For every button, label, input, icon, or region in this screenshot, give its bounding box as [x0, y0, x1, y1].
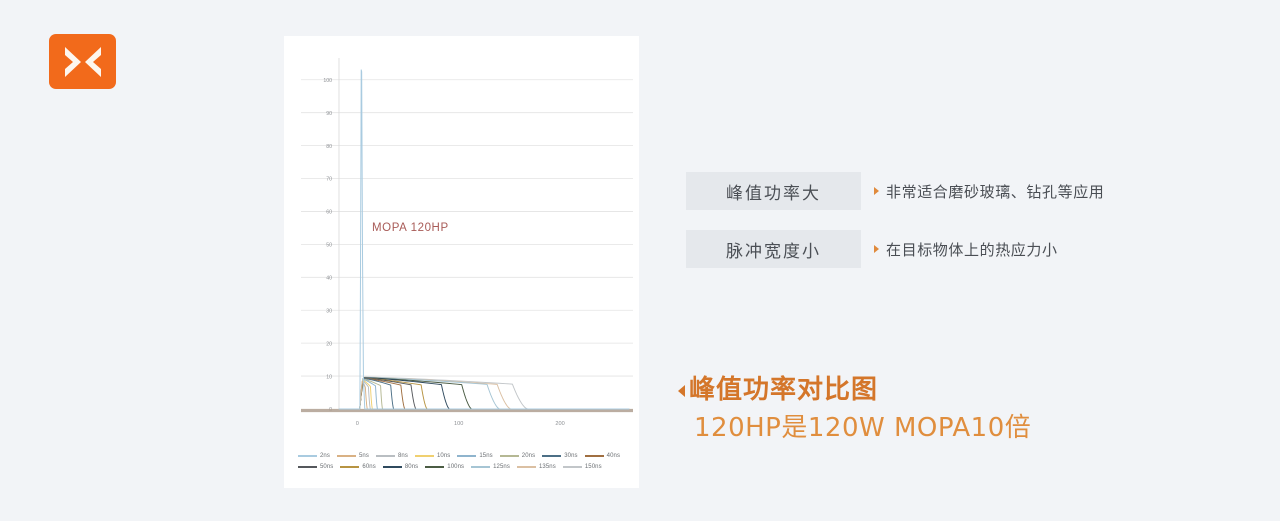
legend-item[interactable]: 40ns	[585, 453, 620, 459]
feature-description: 在目标物体上的热应力小	[886, 239, 1058, 260]
feature-row-peak-power: 峰值功率大 非常适合磨砂玻璃、钻孔等应用	[686, 172, 1104, 210]
legend-swatch	[542, 455, 561, 457]
legend-item[interactable]: 10ns	[415, 453, 450, 459]
legend-item[interactable]: 30ns	[542, 453, 577, 459]
y-axis-tick-label: 60	[326, 210, 332, 216]
feature-row-pulse-width: 脉冲宽度小 在目标物体上的热应力小	[686, 230, 1058, 268]
headline-block: 峰值功率对比图 120HP是120W MOPA10倍	[678, 376, 1098, 444]
legend-label: 10ns	[437, 453, 450, 459]
legend-item[interactable]: 20ns	[500, 453, 535, 459]
y-axis-tick-label: 80	[326, 144, 332, 150]
chart-series-line	[339, 70, 629, 409]
headline-title: 峰值功率对比图	[689, 376, 878, 406]
triangle-right-icon	[874, 245, 879, 253]
triangle-left-icon	[678, 385, 685, 397]
chart-annotation-mopa-120hp: MOPA 120HP	[372, 222, 449, 234]
legend-swatch	[376, 455, 395, 457]
legend-item[interactable]: 80ns	[383, 464, 418, 470]
legend-label: 30ns	[564, 453, 577, 459]
headline-subtitle: 120HP是120W MOPA10倍	[694, 414, 1098, 444]
y-axis-tick-label: 40	[326, 276, 332, 282]
legend-item[interactable]: 15ns	[457, 453, 492, 459]
legend-label: 100ns	[447, 464, 464, 470]
feature-description: 非常适合磨砂玻璃、钻孔等应用	[886, 181, 1104, 202]
feature-chip-label: 脉冲宽度小	[726, 237, 821, 262]
chart-series-line	[339, 381, 629, 409]
legend-swatch	[471, 466, 490, 468]
legend-swatch	[425, 466, 444, 468]
y-axis-tick-label: 50	[326, 243, 332, 249]
legend-label: 8ns	[398, 453, 408, 459]
legend-label: 50ns	[320, 464, 333, 470]
legend-swatch	[585, 455, 604, 457]
chart-legend: 2ns5ns8ns10ns15ns20ns30ns40ns 50ns60ns80…	[294, 450, 634, 472]
chart-series-line	[339, 377, 629, 409]
legend-swatch	[298, 466, 317, 468]
chart-series-line	[339, 378, 629, 409]
legend-item[interactable]: 8ns	[376, 453, 408, 459]
feature-chip: 脉冲宽度小	[686, 230, 861, 268]
legend-swatch	[500, 455, 519, 457]
legend-label: 40ns	[607, 453, 620, 459]
legend-swatch	[383, 466, 402, 468]
legend-swatch	[298, 455, 317, 457]
brand-logo	[49, 34, 116, 89]
legend-item[interactable]: 150ns	[563, 464, 602, 470]
x-axis-tick-label: 100	[454, 421, 463, 427]
legend-label: 15ns	[479, 453, 492, 459]
peak-power-comparison-chart: 01020304050607080901000100200MOPA 120HP	[284, 36, 639, 446]
legend-label: 135ns	[539, 464, 556, 470]
legend-label: 2ns	[320, 453, 330, 459]
legend-item[interactable]: 2ns	[298, 453, 330, 459]
legend-item[interactable]: 60ns	[340, 464, 375, 470]
legend-label: 20ns	[522, 453, 535, 459]
legend-item[interactable]: 5ns	[337, 453, 369, 459]
legend-label: 125ns	[493, 464, 510, 470]
x-axis-tick-label: 0	[356, 421, 359, 427]
legend-swatch	[563, 466, 582, 468]
x-axis-tick-label: 200	[555, 421, 564, 427]
legend-swatch	[340, 466, 359, 468]
chart-plot-area: 01020304050607080901000100200MOPA 120HP	[284, 36, 639, 446]
legend-item[interactable]: 50ns	[298, 464, 333, 470]
headline-title-row: 峰值功率对比图	[678, 376, 1098, 406]
legend-swatch	[415, 455, 434, 457]
y-axis-tick-label: 20	[326, 341, 332, 347]
legend-swatch	[457, 455, 476, 457]
legend-swatch	[517, 466, 536, 468]
legend-row-1: 2ns5ns8ns10ns15ns20ns30ns40ns	[294, 450, 634, 461]
double-chevron-logo-icon	[59, 44, 107, 80]
y-axis-tick-label: 70	[326, 177, 332, 183]
y-axis-tick-label: 10	[326, 374, 332, 380]
chart-card: 01020304050607080901000100200MOPA 120HP …	[284, 36, 639, 488]
legend-item[interactable]: 125ns	[471, 464, 510, 470]
legend-label: 5ns	[359, 453, 369, 459]
legend-label: 80ns	[405, 464, 418, 470]
legend-label: 60ns	[362, 464, 375, 470]
chart-series-line	[339, 381, 629, 409]
legend-swatch	[337, 455, 356, 457]
y-axis-tick-label: 100	[323, 78, 332, 84]
legend-row-2: 50ns60ns80ns100ns125ns135ns150ns	[294, 461, 634, 472]
feature-chip-label: 峰值功率大	[726, 179, 821, 204]
y-axis-tick-label: 90	[326, 111, 332, 117]
legend-label: 150ns	[585, 464, 602, 470]
y-axis-tick-label: 30	[326, 308, 332, 314]
triangle-right-icon	[874, 187, 879, 195]
legend-item[interactable]: 135ns	[517, 464, 556, 470]
legend-item[interactable]: 100ns	[425, 464, 464, 470]
feature-chip: 峰值功率大	[686, 172, 861, 210]
